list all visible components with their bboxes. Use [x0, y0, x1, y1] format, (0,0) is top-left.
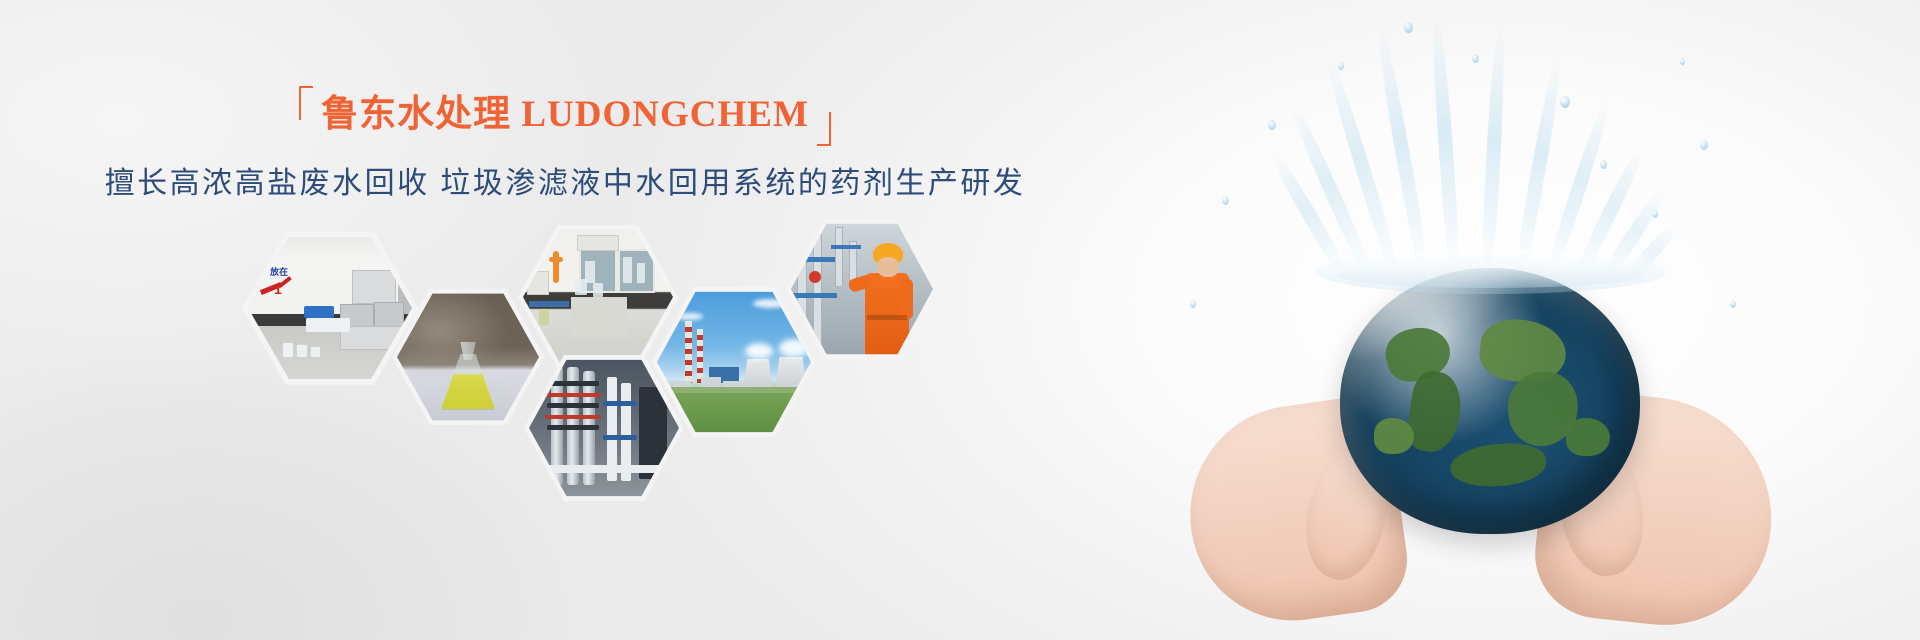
bracket-bottom-right-icon: [817, 112, 831, 146]
bracket-top-left-icon: [299, 86, 313, 120]
banner-title: 鲁东水处理 LUDONGCHEM: [321, 92, 809, 138]
water-droplet: [1600, 160, 1607, 169]
water-droplet: [1190, 300, 1196, 308]
water-droplet: [1560, 96, 1570, 108]
water-droplet: [1730, 300, 1736, 308]
water-droplet: [1680, 58, 1685, 65]
globe-rim-splash: [1316, 250, 1666, 294]
banner-subtitle: 擅长高浓高盐废水回收 垃圾渗滤液中水回用系统的药剂生产研发: [0, 164, 1130, 204]
water-globe: [1340, 268, 1640, 534]
banner-text-block: 鲁东水处理 LUDONGCHEM 擅长高浓高盐废水回收 垃圾渗滤液中水回用系统的…: [0, 86, 1130, 204]
water-droplet: [1700, 140, 1708, 150]
water-globe-artwork: [1040, 0, 1920, 640]
water-droplet: [1268, 120, 1276, 130]
wall-slogan-top: 放在: [270, 267, 288, 277]
title-bracket-frame: 鲁东水处理 LUDONGCHEM: [299, 86, 831, 146]
water-droplet: [1404, 22, 1413, 33]
water-droplet: [1338, 62, 1344, 70]
water-droplet: [1652, 210, 1658, 218]
water-droplet: [1222, 196, 1229, 205]
hero-banner: 放在 1: [0, 0, 1920, 640]
water-splash-crown: [1320, 10, 1660, 280]
water-droplet: [1472, 54, 1479, 63]
